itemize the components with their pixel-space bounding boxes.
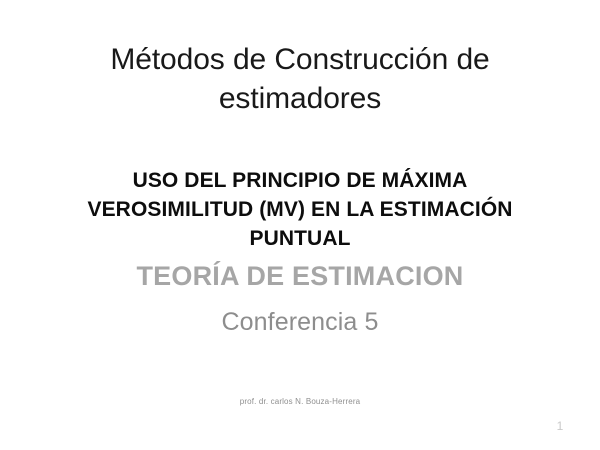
- slide-subject-line-2: VEROSIMILITUD (MV) EN LA ESTIMACIÓN: [30, 195, 570, 224]
- slide-number: 1: [550, 418, 570, 434]
- slide-subject-line-3: PUNTUAL: [30, 224, 570, 253]
- presentation-slide: Métodos de Construcción de estimadores U…: [0, 0, 600, 450]
- slide-title: Métodos de Construcción de estimadores: [50, 40, 550, 118]
- course-heading: TEORÍA DE ESTIMACION: [0, 259, 600, 293]
- conference-subtitle: Conferencia 5: [0, 306, 600, 338]
- slide-subject-line-1: USO DEL PRINCIPIO DE MÁXIMA: [30, 166, 570, 195]
- slide-title-line-2: estimadores: [50, 79, 550, 118]
- slide-subject-heading: USO DEL PRINCIPIO DE MÁXIMA VEROSIMILITU…: [30, 166, 570, 253]
- slide-title-line-1: Métodos de Construcción de: [50, 40, 550, 79]
- author-credit: prof. dr. carlos N. Bouza-Herrera: [0, 396, 600, 407]
